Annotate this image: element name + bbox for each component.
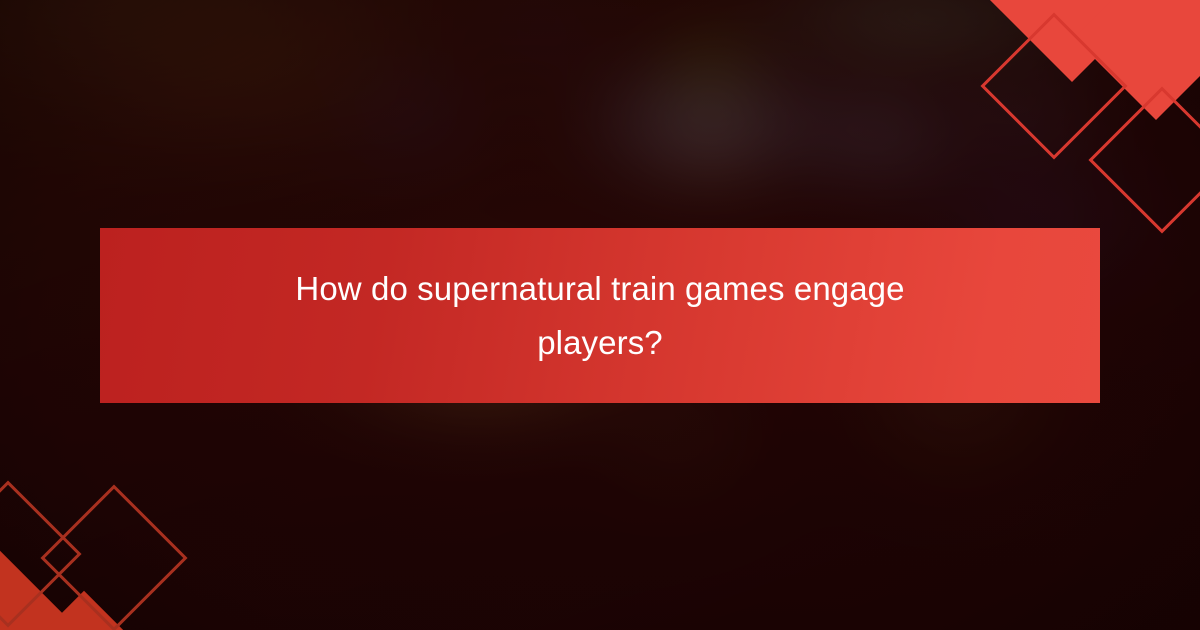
decoration-bottom-left <box>0 425 230 630</box>
headline-text: How do supernatural train games engage p… <box>235 262 965 369</box>
social-share-card: How do supernatural train games engage p… <box>0 0 1200 630</box>
decoration-top-right <box>970 0 1200 200</box>
diamond-outline-icon <box>40 484 187 630</box>
headline-banner: How do supernatural train games engage p… <box>100 228 1100 403</box>
